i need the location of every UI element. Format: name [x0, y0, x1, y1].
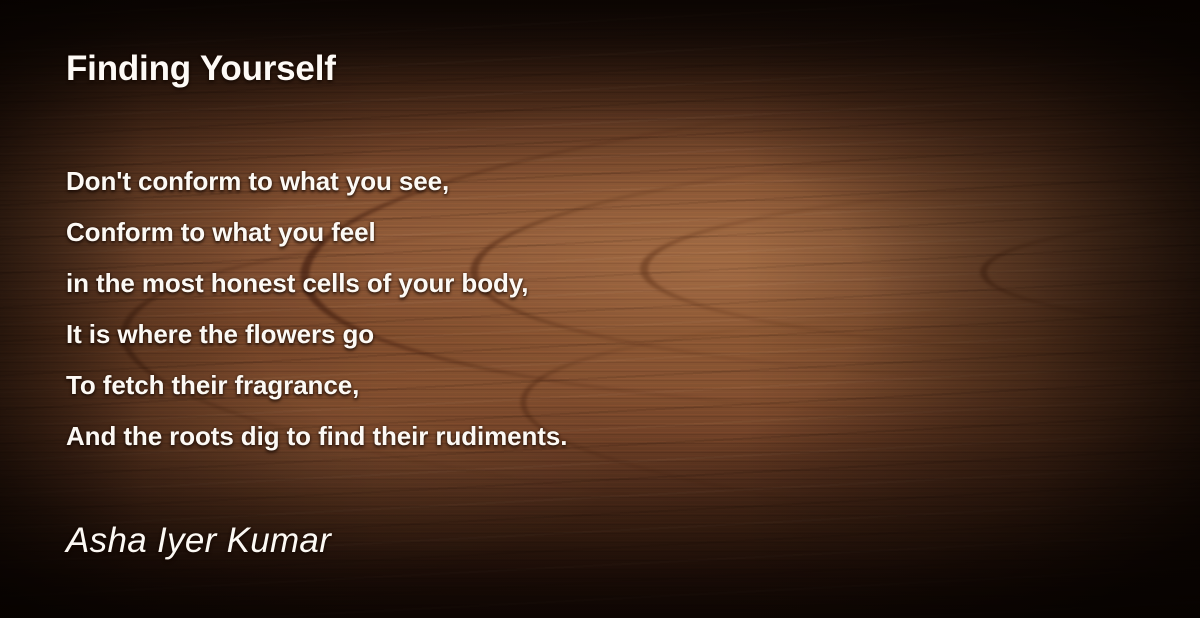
poem-line: Don't conform to what you see, [66, 156, 567, 207]
poem-author-name: Asha Iyer Kumar [66, 519, 331, 563]
poem-line: Conform to what you feel [66, 207, 567, 258]
poem-line: It is where the flowers go [66, 309, 567, 360]
poem-line: in the most honest cells of your body, [66, 258, 567, 309]
poem-content: Finding Yourself Don't conform to what y… [0, 0, 1200, 618]
poem-line: To fetch their fragrance, [66, 360, 567, 411]
poem-line: And the roots dig to find their rudiment… [66, 411, 567, 462]
poem-title: Finding Yourself [66, 48, 336, 90]
poem-image-card: Finding Yourself Don't conform to what y… [0, 0, 1200, 618]
poem-body: Don't conform to what you see, Conform t… [66, 156, 567, 462]
